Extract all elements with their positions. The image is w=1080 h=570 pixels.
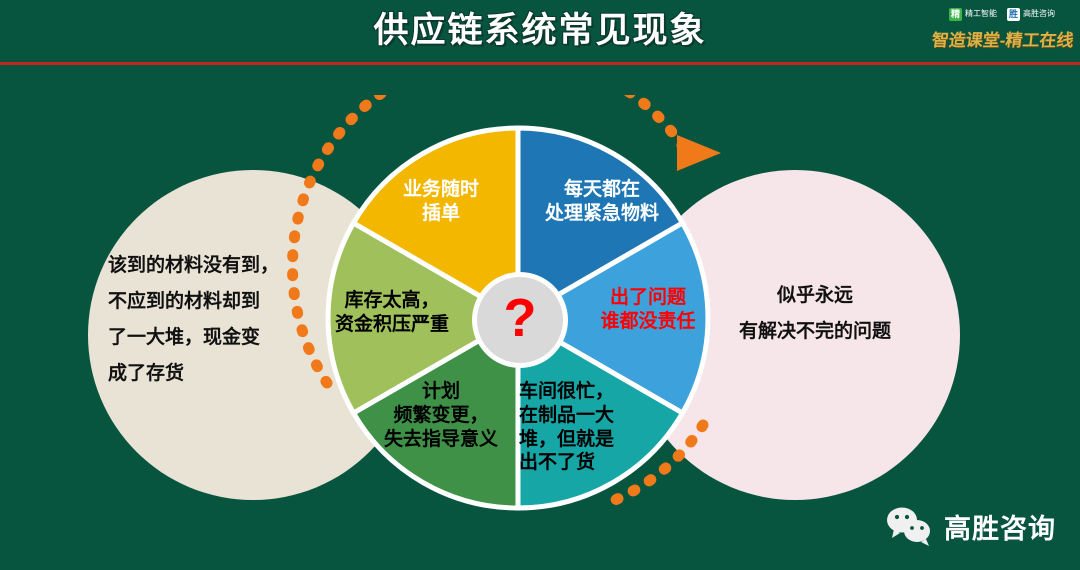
label-line: 车间很忙， xyxy=(519,380,635,404)
header-divider xyxy=(0,62,1080,65)
label-line: 出了问题 xyxy=(582,286,714,310)
wheel-label-inventory-high: 库存太高， 资金积压严重 xyxy=(318,289,466,337)
wechat-icon xyxy=(886,506,932,546)
label-line: 每天都在 xyxy=(527,178,677,202)
text-line: 该到的材料没有到， xyxy=(108,248,313,284)
text-line: 似乎永远 xyxy=(700,278,930,314)
jinggong-mark-icon: 精 xyxy=(949,8,962,21)
wheel-label-plan-change: 计划 频繁变更， 失去指导意义 xyxy=(366,380,516,451)
slide-canvas: 供应链系统常见现象 精 精工智能 胜 高胜咨询 智造课堂-精工在线 xyxy=(0,0,1080,570)
label-line: 在制品一大 xyxy=(519,404,635,428)
label-line: 谁都没责任 xyxy=(582,310,714,334)
wheel-label-workshop-busy: 车间很忙， 在制品一大 堆，但就是 出不了货 xyxy=(519,380,635,475)
label-line: 资金积压严重 xyxy=(318,313,466,337)
text-line: 了一大堆，现金变 xyxy=(108,320,313,356)
label-line: 堆，但就是 xyxy=(519,428,635,452)
brand-jinggong: 精 精工智能 xyxy=(949,8,997,21)
jinggong-label: 精工智能 xyxy=(965,10,997,18)
wheel-label-urgent-material: 每天都在 处理紧急物料 xyxy=(527,178,677,226)
brand-logo-block: 精 精工智能 胜 高胜咨询 智造课堂-精工在线 xyxy=(932,4,1072,58)
label-line: 处理紧急物料 xyxy=(527,202,677,226)
wechat-account-name: 高胜咨询 xyxy=(944,507,1056,546)
label-line: 频繁变更， xyxy=(366,404,516,428)
label-line: 库存太高， xyxy=(318,289,466,313)
slide-header: 供应链系统常见现象 精 精工智能 胜 高胜咨询 智造课堂-精工在线 xyxy=(0,0,1080,63)
text-line: 不应到的材料却到 xyxy=(108,284,313,320)
gaosheng-mark-icon: 胜 xyxy=(1007,8,1020,21)
wheel-label-no-responsibility: 出了问题 谁都没责任 xyxy=(582,286,714,334)
wechat-footer: 高胜咨询 xyxy=(886,506,1056,546)
brand-tagline: 智造课堂-精工在线 xyxy=(931,26,1074,51)
brand-logo-row: 精 精工智能 胜 高胜咨询 xyxy=(932,4,1072,24)
brand-gaosheng: 胜 高胜咨询 xyxy=(1007,8,1055,21)
label-line: 计划 xyxy=(366,380,516,404)
text-line: 有解决不完的问题 xyxy=(700,314,930,350)
wheel-center-hub[interactable]: ? xyxy=(472,272,568,368)
label-line: 出不了货 xyxy=(519,451,635,475)
wheel-label-business-insert-order: 业务随时 插单 xyxy=(377,178,505,226)
label-line: 业务随时 xyxy=(377,178,505,202)
right-circle-text: 似乎永远 有解决不完的问题 xyxy=(700,278,930,350)
question-mark-icon: ? xyxy=(504,291,537,345)
label-line: 失去指导意义 xyxy=(366,428,516,452)
page-title: 供应链系统常见现象 xyxy=(0,4,1080,58)
gaosheng-label: 高胜咨询 xyxy=(1023,10,1055,18)
label-line: 插单 xyxy=(377,202,505,226)
left-circle-text: 该到的材料没有到， 不应到的材料却到 了一大堆，现金变 成了存货 xyxy=(108,248,313,392)
text-line: 成了存货 xyxy=(108,356,313,392)
